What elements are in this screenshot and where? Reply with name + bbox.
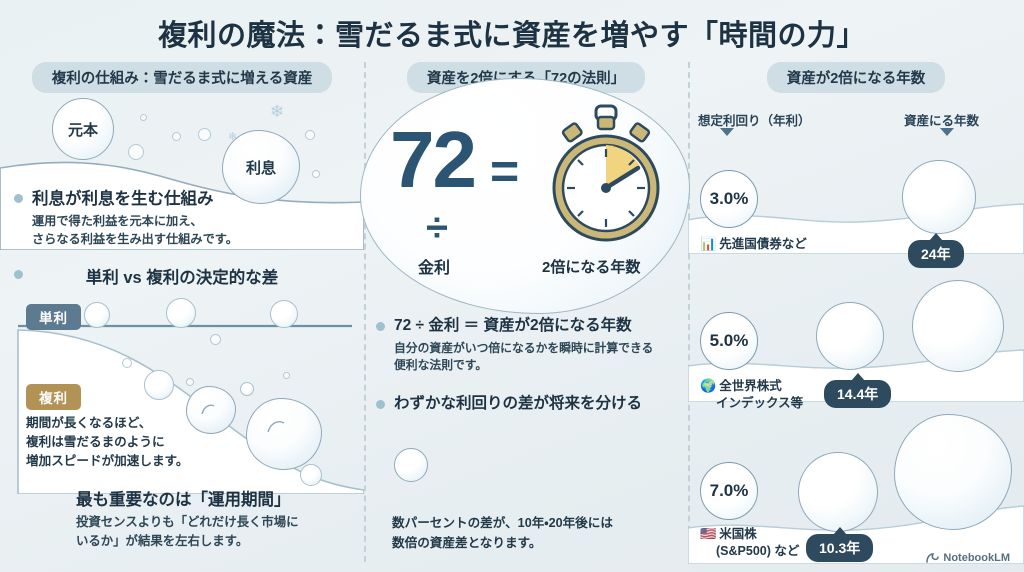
middle-bullet-small-difference: わずかな利回りの差が将来を分ける — [376, 394, 686, 415]
equals-symbol: = — [490, 146, 519, 196]
closing-subtext-line1: 投資センスよりも「どれだけ長く市場に — [76, 513, 356, 532]
asset-label-5pct: 🌍全世界株式 インデックス等 — [700, 378, 803, 411]
compound-description-line1: 期間が長くなるほど、 — [26, 414, 188, 433]
rate-badge-3pct: 3.0% — [700, 170, 758, 228]
years-column-label: 資産にる年数 — [904, 110, 979, 129]
snowball-face-2 — [262, 414, 298, 444]
rate-badge-7pct: 7.0% — [700, 462, 758, 520]
badge-compound-interest: 複利 — [26, 384, 81, 410]
us-flag-icon: 🇺🇸 — [700, 526, 716, 541]
rate-badge-5pct: 5.0% — [700, 312, 758, 370]
snowball-principal: 元本 — [52, 98, 114, 160]
compound-description-line2: 複利は雪だるまのように — [26, 433, 188, 452]
snow-dot — [312, 170, 320, 178]
snowball-face-1 — [196, 398, 226, 424]
snow-dot — [210, 334, 221, 345]
asset-name-line1: 米国株 — [719, 527, 757, 541]
right-section-header: 資産が2倍になる年数 — [767, 62, 946, 93]
snowball-simple-3 — [270, 300, 298, 328]
bullet-heading: 72 ÷ 金利 ＝ 資産が2倍になる年数 — [394, 316, 686, 337]
snow-dot — [305, 130, 315, 140]
snowball-simple-1 — [84, 302, 110, 328]
result-label: 2倍になる年数 — [542, 256, 640, 277]
closing-heading: 最も重要なのは「運用期間」 — [76, 486, 356, 510]
snow-dot — [283, 372, 290, 379]
rate-column-label: 想定利回り（年利） — [698, 110, 811, 129]
notebooklm-logo-icon — [926, 553, 939, 564]
left-closing-block: 最も重要なのは「運用期間」 投資センスよりも「どれだけ長く市場に いるか」が結果… — [76, 486, 356, 550]
watermark: NotebookLM — [926, 552, 1010, 564]
divide-symbol: ÷ — [426, 208, 448, 248]
bullet-dot — [14, 194, 23, 203]
snow-dot — [128, 144, 144, 160]
bullet-subtext-line1: 自分の資産がいつ倍になるかを瞬時に計算できる — [394, 340, 686, 357]
watermark-label: NotebookLM — [943, 552, 1010, 564]
snowball-simple-2 — [166, 298, 196, 328]
denominator-label: 金利 — [418, 254, 450, 278]
snow-dot — [198, 128, 211, 141]
snowball-principal-label: 元本 — [53, 99, 113, 159]
closing-subtext-line2: いるか」が結果を左右します。 — [76, 532, 356, 551]
middle-bullet-formula: 72 ÷ 金利 ＝ 資産が2倍になる年数 自分の資産がいつ倍になるかを瞬時に計算… — [376, 316, 686, 374]
bullet-dot — [376, 400, 385, 409]
snow-dot — [186, 378, 194, 386]
number-72: 72 — [390, 120, 475, 200]
asset-name-line1: 全世界株式 — [719, 379, 782, 393]
middle-closing-line2: 数倍の資産差となります。 — [392, 534, 613, 554]
bullet-heading: 利息が利息を生む仕組み — [32, 188, 354, 210]
asset-name-line2: (S&P500) など — [716, 543, 799, 559]
asset-label-7pct: 🇺🇸米国株 (S&P500) など — [700, 526, 799, 559]
bullet-subtext-line2: さらなる利益を生み出す仕組みです。 — [32, 231, 354, 249]
caret-down-icon — [720, 128, 734, 136]
snowball-7pct-mid — [798, 452, 878, 532]
years-badge-3pct: 24年 — [908, 240, 964, 268]
years-badge-7pct: 10.3年 — [806, 534, 873, 562]
snowball-5pct-large — [912, 280, 1004, 372]
compare-heading: 単利 vs 複利の決定的な差 — [0, 264, 364, 288]
section-compound-mechanism: 複利の仕組み：雪だるま式に増える資産 元本 利息 ❄ ❄ 利息が利息を生む仕組み — [0, 58, 364, 568]
left-bullet-interest-on-interest: 利息が利息を生む仕組み 運用で得た利益を元本に加え、 さらなる利益を生み出す仕組… — [14, 188, 354, 249]
badge-simple-interest: 単利 — [26, 304, 81, 330]
compound-description-line3: 増加スピードが加速します。 — [26, 452, 188, 471]
snowball-7pct-large — [894, 414, 1012, 530]
snowball-5pct-mid — [816, 302, 884, 370]
snowball-illustration-small — [394, 448, 428, 482]
snowflake-icon: ❄ — [228, 130, 237, 143]
snow-dot — [140, 114, 147, 121]
middle-closing-text: 数パーセントの差が、10年・20年後には 数倍の資産差となります。 — [392, 514, 613, 553]
globe-icon: 🌍 — [700, 378, 716, 393]
snow-dot — [122, 358, 132, 368]
chart-increasing-icon: 📊 — [700, 236, 716, 251]
asset-name-line2: インデックス等 — [716, 395, 803, 411]
snow-dot — [172, 132, 181, 141]
snowflake-icon: ❄ — [270, 102, 284, 122]
compound-description: 期間が長くなるほど、 複利は雪だるまのように 増加スピードが加速します。 — [26, 414, 188, 471]
snowball-compound-2 — [240, 382, 254, 396]
asset-label-3pct: 📊先進国債券など — [700, 236, 807, 253]
bullet-subtext-line2: 便利な法則です。 — [394, 357, 686, 374]
snowball-compound-1 — [144, 370, 174, 400]
infographic-poster: 複利の魔法：雪だるま式に資産を増やす「時間の力」 複利の仕組み：雪だるま式に増え… — [0, 0, 1024, 572]
section-doubling-years: 資産が2倍になる年数 想定利回り（年利） 資産にる年数 3.0% 📊先進国債券な… — [688, 58, 1024, 568]
caret-down-icon — [940, 128, 954, 136]
section-rule-of-72: 資産を2倍にする「72の法則」 72 ÷ 金利 = — [364, 58, 688, 568]
years-badge-5pct: 14.4年 — [824, 380, 891, 408]
bullet-subtext-line1: 運用で得た利益を元本に加え、 — [32, 213, 354, 231]
middle-closing-line1: 数パーセントの差が、10年・20年後には — [392, 514, 613, 534]
stopwatch-icon — [540, 104, 672, 254]
asset-name-line1: 先進国債券など — [719, 237, 807, 251]
page-title: 複利の魔法：雪だるま式に資産を増やす「時間の力」 — [0, 12, 1024, 54]
bullet-heading: わずかな利回りの差が将来を分ける — [394, 394, 686, 415]
bullet-dot — [376, 322, 385, 331]
snowball-compound-5 — [300, 464, 322, 486]
snowball-3pct — [902, 160, 976, 234]
